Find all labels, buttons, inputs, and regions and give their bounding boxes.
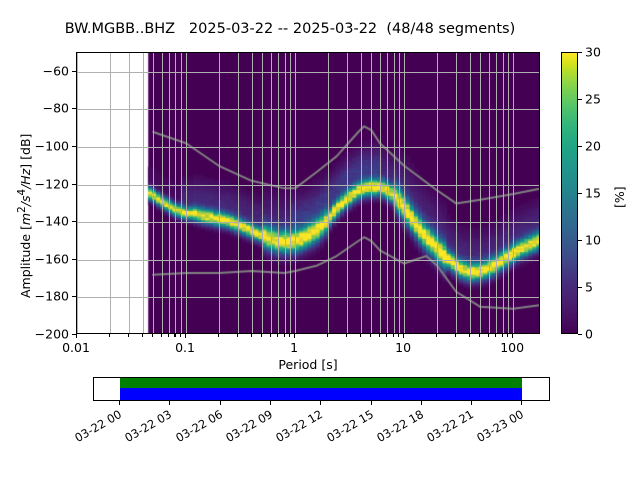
x-tick-mark-minor (218, 334, 219, 337)
x-tick-mark-minor (507, 334, 508, 337)
data-available-band (120, 378, 522, 388)
colorbar-tick-label: 25 (585, 92, 601, 107)
data-coverage-timeline[interactable] (93, 377, 550, 401)
timeline-tick-mark (119, 401, 120, 405)
x-tick-mark-minor (370, 334, 371, 337)
colorbar-tick-label: 0 (585, 327, 593, 342)
x-tick-mark-minor (277, 334, 278, 337)
ppsd-plot-area[interactable] (76, 52, 540, 334)
timeline-tick-mark (270, 401, 271, 405)
x-tick-mark-major (512, 334, 513, 338)
x-tick-mark-minor (270, 334, 271, 337)
x-tick-mark-minor (174, 334, 175, 337)
x-tick-mark-minor (479, 334, 480, 337)
x-tick-mark-minor (393, 334, 394, 337)
ppsd-clip (77, 53, 539, 333)
colorbar-tick-label: 10 (585, 233, 601, 248)
colorbar[interactable] (561, 52, 578, 334)
x-tick-mark-minor (495, 334, 496, 337)
y-tick-label: −120 (35, 176, 69, 191)
colorbar-tick-mark (578, 146, 582, 147)
timeline-tick-mark (320, 401, 321, 405)
y-tick-label: −140 (35, 214, 69, 229)
figure-title: BW.MGBB..BHZ 2025-03-22 -- 2025-03-22 (4… (0, 21, 580, 37)
x-tick-mark-minor (237, 334, 238, 337)
colorbar-tick-mark (578, 99, 582, 100)
colorbar-label: [%] (612, 186, 627, 208)
colorbar-tick-label: 20 (585, 139, 601, 154)
timeline-tick-mark (521, 401, 522, 405)
x-tick-label: 0.1 (175, 340, 195, 355)
y-axis-label-text: Amplitude [m2/s4/Hz] [dB] (18, 134, 33, 298)
x-tick-mark-minor (502, 334, 503, 337)
x-tick-mark-minor (327, 334, 328, 337)
y-axis-label: Amplitude [m2/s4/Hz] [dB] (16, 134, 33, 298)
y-tick-label: −60 (43, 63, 69, 78)
colorbar-tick-mark (578, 287, 582, 288)
colorbar-tick-mark (578, 193, 582, 194)
colorbar-tick-mark (578, 334, 582, 335)
x-tick-mark-minor (289, 334, 290, 337)
x-tick-mark-minor (109, 334, 110, 337)
noise-model-curves (77, 53, 539, 333)
x-tick-label: 1 (290, 340, 298, 355)
x-tick-mark-major (76, 334, 77, 338)
timeline-tick-mark (220, 401, 221, 405)
ppsd-used-band (120, 388, 522, 400)
x-tick-mark-minor (346, 334, 347, 337)
x-tick-mark-minor (398, 334, 399, 337)
y-tick-label: −160 (35, 251, 69, 266)
x-tick-mark-minor (488, 334, 489, 337)
x-tick-mark-minor (152, 334, 153, 337)
x-tick-mark-minor (284, 334, 285, 337)
x-tick-mark-minor (261, 334, 262, 337)
x-axis-label: Period [s] (76, 357, 540, 372)
colorbar-tick-mark (578, 240, 582, 241)
timeline-tick-mark (371, 401, 372, 405)
colorbar-tick-label: 15 (585, 186, 601, 201)
y-tick-label: −100 (35, 139, 69, 154)
x-tick-mark-minor (469, 334, 470, 337)
x-tick-mark-minor (161, 334, 162, 337)
y-tick-label: −180 (35, 289, 69, 304)
colorbar-tick-label: 5 (585, 280, 593, 295)
timeline-tick-mark (421, 401, 422, 405)
timeline-tick-mark (169, 401, 170, 405)
x-tick-mark-major (294, 334, 295, 338)
x-tick-mark-major (185, 334, 186, 338)
x-tick-mark-major (403, 334, 404, 338)
x-tick-mark-minor (436, 334, 437, 337)
timeline-tick-mark (471, 401, 472, 405)
x-tick-mark-minor (386, 334, 387, 337)
colorbar-tick-label: 30 (585, 45, 601, 60)
x-tick-mark-minor (251, 334, 252, 337)
colorbar-tick-mark (578, 52, 582, 53)
x-tick-mark-minor (128, 334, 129, 337)
x-tick-label: 0.01 (62, 340, 90, 355)
x-tick-mark-minor (379, 334, 380, 337)
x-tick-label: 100 (500, 340, 524, 355)
x-tick-label: 10 (395, 340, 411, 355)
x-tick-mark-minor (360, 334, 361, 337)
x-tick-mark-minor (142, 334, 143, 337)
x-tick-mark-minor (168, 334, 169, 337)
x-tick-mark-minor (180, 334, 181, 337)
y-tick-label: −80 (43, 101, 69, 116)
ppsd-figure: BW.MGBB..BHZ 2025-03-22 -- 2025-03-22 (4… (0, 0, 640, 480)
x-tick-mark-minor (455, 334, 456, 337)
